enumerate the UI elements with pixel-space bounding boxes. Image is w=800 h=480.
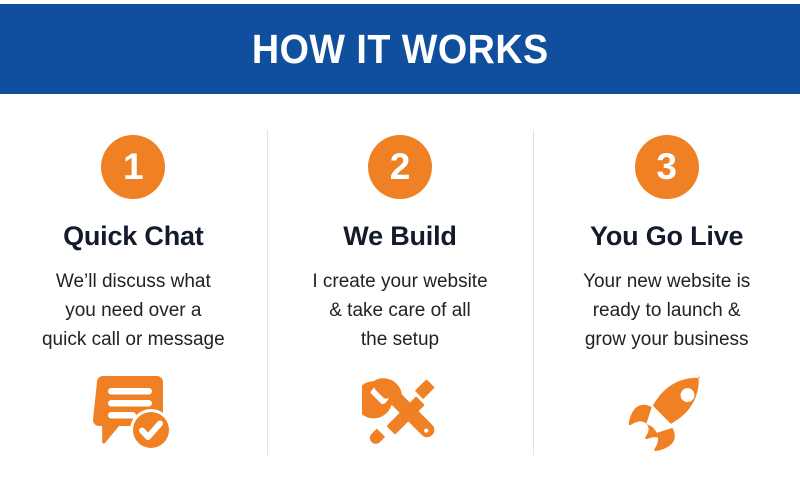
step-number-1: 1	[123, 148, 144, 185]
step-number-3: 3	[656, 148, 677, 185]
wrench-screwdriver-icon	[357, 374, 443, 454]
step-number-badge-2: 2	[368, 135, 432, 199]
chat-bubble-check-icon	[90, 374, 176, 454]
step-body-line: you need over a	[42, 297, 225, 326]
step-heading-1: Quick Chat	[63, 223, 204, 250]
step-body-line: ready to launch &	[583, 297, 750, 326]
step-heading-2: We Build	[343, 223, 456, 250]
step-body-line: grow your business	[583, 326, 750, 355]
step-body-line: We’ll discuss what	[42, 268, 225, 297]
step-body-3: Your new website is ready to launch & gr…	[583, 268, 750, 355]
step-body-line: I create your website	[312, 268, 487, 297]
step-body-line: the setup	[312, 326, 487, 355]
rocket-icon	[624, 374, 710, 454]
how-it-works-infographic: HOW IT WORKS 1 Quick Chat We’ll discuss …	[0, 0, 800, 480]
step-card-3: 3 You Go Live Your new website is ready …	[533, 94, 800, 480]
step-heading-3: You Go Live	[590, 223, 743, 250]
step-body-line: & take care of all	[312, 297, 487, 326]
step-body-line: quick call or message	[42, 326, 225, 355]
step-body-1: We’ll discuss what you need over a quick…	[42, 268, 225, 355]
steps-row: 1 Quick Chat We’ll discuss what you need…	[0, 94, 800, 480]
step-card-1: 1 Quick Chat We’ll discuss what you need…	[0, 94, 267, 480]
step-number-badge-3: 3	[635, 135, 699, 199]
page-title: HOW IT WORKS	[252, 29, 549, 70]
step-card-2: 2 We Build I create your website & take …	[267, 94, 534, 480]
step-body-line: Your new website is	[583, 268, 750, 297]
step-body-2: I create your website & take care of all…	[312, 268, 487, 355]
step-number-2: 2	[390, 148, 411, 185]
step-number-badge-1: 1	[101, 135, 165, 199]
header-banner: HOW IT WORKS	[0, 4, 800, 94]
